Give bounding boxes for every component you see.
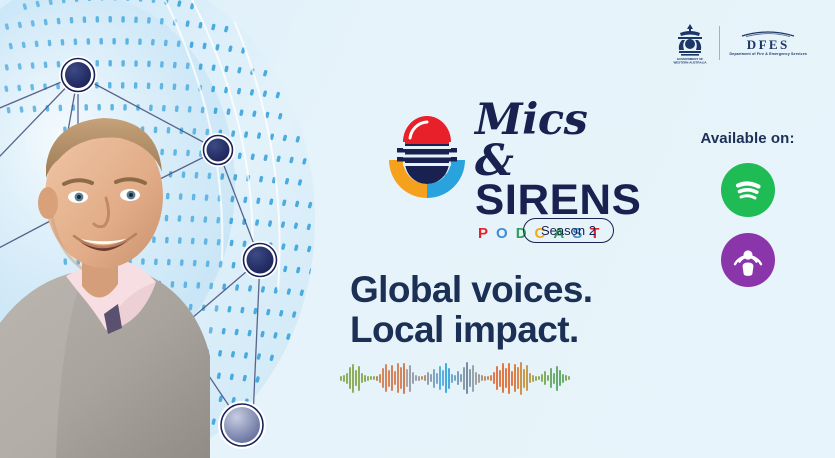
waveform-bar [556, 366, 558, 391]
waveform-bar [553, 373, 555, 384]
podcast-letter-o-1: O [496, 225, 509, 242]
podcast-letter-p-0: P [478, 225, 489, 242]
waveform-bar [466, 362, 468, 394]
government-logos: GOVERNMENT OF WESTERN AUSTRALIA DFES Dep… [670, 22, 807, 64]
waveform-bar [445, 363, 447, 393]
waveform-bar [487, 376, 489, 380]
waveform-bar [382, 368, 384, 388]
waveform-bar [478, 374, 480, 383]
waveform-bar [346, 373, 348, 384]
waveform-bar [541, 374, 543, 382]
waveform-bar [451, 374, 453, 383]
waveform-bar [406, 369, 408, 387]
waveform-bar [502, 363, 504, 393]
waveform-bar [439, 366, 441, 390]
waveform-bar [535, 376, 537, 381]
waveform-bar [562, 374, 564, 383]
waveform-bar [481, 375, 483, 381]
waveform-bar [454, 375, 456, 381]
waveform-bar [361, 373, 363, 383]
waveform-bar [343, 375, 345, 382]
waveform-bar [388, 370, 390, 387]
waveform-bar [403, 363, 405, 394]
waveform-bar [349, 367, 351, 389]
dfes-subtitle: Department of Fire & Emergency Services [729, 53, 807, 57]
available-on-label: Available on: [690, 130, 805, 147]
mics-script-title: Mics & [475, 100, 630, 182]
waveform-bar [358, 366, 360, 391]
waveform-bar [568, 376, 570, 380]
waveform-bar [340, 376, 342, 381]
apple-podcasts-icon[interactable] [721, 233, 775, 287]
waveform-bar [442, 370, 444, 386]
waveform-bar [529, 373, 531, 383]
microphone-icon [383, 104, 471, 224]
waveform-bar [391, 365, 393, 391]
waveform-bar [385, 364, 387, 392]
waveform-bar [460, 374, 462, 382]
waveform-bar [379, 374, 381, 383]
waveform-bar [463, 367, 465, 390]
waveform-bar [538, 376, 540, 380]
waveform-bar [400, 367, 402, 389]
waveform-bar [457, 371, 459, 385]
waveform-bar [565, 375, 567, 381]
waveform-bar [433, 369, 435, 388]
waveform-bar [412, 372, 414, 384]
audio-waveform [340, 360, 668, 396]
wa-government-crest-icon: GOVERNMENT OF WESTERN AUSTRALIA [670, 22, 710, 64]
dfes-logo: DFES Department of Fire & Emergency Serv… [729, 30, 807, 57]
waveform-bar [415, 375, 417, 381]
waveform-bar [352, 364, 354, 393]
waveform-bar [469, 369, 471, 387]
waveform-bar [376, 376, 378, 381]
waveform-bar [418, 376, 420, 381]
waveform-bar [367, 376, 369, 381]
logo-divider [719, 26, 720, 60]
svg-text:WESTERN AUSTRALIA: WESTERN AUSTRALIA [674, 60, 708, 64]
headline-line-2: Local impact. [350, 310, 700, 350]
waveform-bar [559, 370, 561, 386]
waveform-bar [373, 376, 375, 380]
waveform-bar [508, 363, 510, 394]
waveform-bar [484, 376, 486, 381]
sirens-title: SIRENS [475, 180, 633, 221]
waveform-bar [514, 364, 516, 392]
waveform-bar [526, 365, 528, 391]
waveform-bar [523, 369, 525, 388]
waveform-bar [397, 363, 399, 393]
waveform-bar [517, 367, 519, 389]
waveform-bar [550, 368, 552, 388]
waveform-bar [505, 368, 507, 388]
dfes-wordmark: DFES [747, 38, 790, 51]
waveform-bar [394, 371, 396, 385]
headline-line-1: Global voices. [350, 270, 700, 310]
headline: Global voices. Local impact. [350, 270, 700, 350]
spotify-icon[interactable] [721, 163, 775, 217]
available-on-section: Available on: [690, 130, 805, 287]
waveform-bar [490, 375, 492, 381]
waveform-bar [409, 365, 411, 392]
waveform-bar [364, 375, 366, 382]
waveform-bar [496, 366, 498, 390]
waveform-bar [448, 368, 450, 389]
waveform-bar [520, 362, 522, 395]
waveform-bar [427, 372, 429, 385]
waveform-bar [424, 375, 426, 381]
waveform-bar [547, 375, 549, 381]
podcast-promo-banner: GOVERNMENT OF WESTERN AUSTRALIA DFES Dep… [0, 0, 835, 458]
waveform-bar [430, 374, 432, 382]
dfes-swoosh-icon [740, 30, 796, 37]
season-badge: Season 2 [523, 218, 614, 243]
host-portrait [0, 38, 210, 458]
waveform-bar [532, 375, 534, 382]
waveform-bar [499, 370, 501, 387]
waveform-bar [493, 372, 495, 384]
waveform-bar [511, 371, 513, 386]
waveform-bar [544, 371, 546, 385]
waveform-bar [370, 376, 372, 380]
waveform-bar [436, 373, 438, 384]
waveform-bar [355, 370, 357, 386]
waveform-bar [472, 365, 474, 392]
waveform-bar [475, 372, 477, 385]
waveform-bar [421, 376, 423, 380]
podcast-logo-cluster: Mics & SIRENS PODCAST Season 2 [383, 100, 633, 250]
